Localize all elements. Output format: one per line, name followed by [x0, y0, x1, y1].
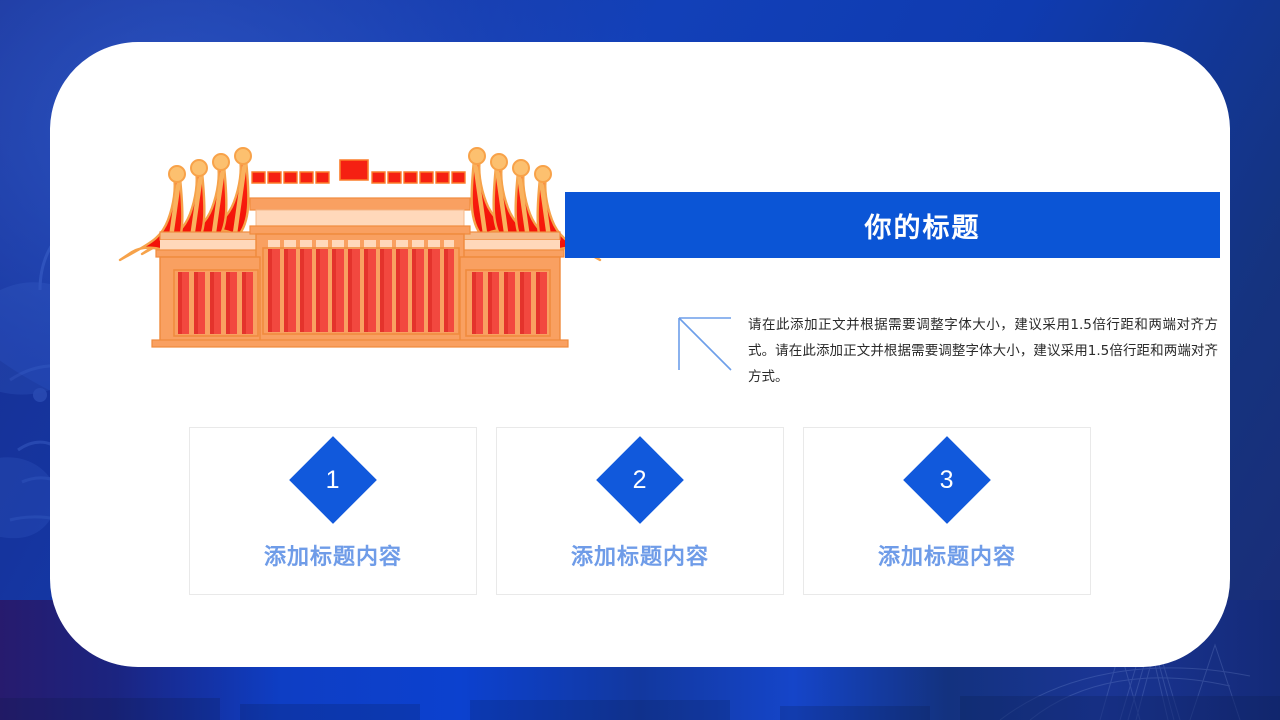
feature-card-label-2: 添加标题内容: [571, 539, 709, 571]
feature-card-1[interactable]: 1 添加标题内容: [189, 427, 477, 595]
corner-triangle-icon: [676, 315, 734, 373]
diamond-number-3: 3: [940, 468, 954, 493]
body-text-block: 请在此添加正文并根据需要调整字体大小，建议采用1.5倍行距和两端对齐方式。请在此…: [676, 312, 1224, 390]
page-title: 你的标题: [865, 206, 981, 245]
rooftop-flag-row: [252, 160, 465, 204]
diamond-badge-3: 3: [903, 436, 991, 524]
feature-card-label-1: 添加标题内容: [264, 539, 402, 571]
great-hall-illustration: [100, 140, 620, 350]
feature-card-3[interactable]: 3 添加标题内容: [803, 427, 1091, 595]
diamond-number-2: 2: [633, 468, 647, 493]
title-banner: 你的标题: [565, 192, 1220, 258]
feature-card-label-3: 添加标题内容: [878, 539, 1016, 571]
diamond-badge-1: 1: [289, 436, 377, 524]
diamond-number-1: 1: [326, 468, 340, 493]
slide-canvas: 你的标题 请在此添加正文并根据需要调整字体大小，建议采用1.5倍行距和两端对齐方…: [0, 0, 1280, 720]
body-paragraph: 请在此添加正文并根据需要调整字体大小，建议采用1.5倍行距和两端对齐方式。请在此…: [748, 312, 1218, 390]
center-flag: [340, 160, 368, 204]
feature-cards-row: 1 添加标题内容 2 添加标题内容 3 添加标题内容: [189, 427, 1091, 595]
diamond-badge-2: 2: [596, 436, 684, 524]
feature-card-2[interactable]: 2 添加标题内容: [496, 427, 784, 595]
